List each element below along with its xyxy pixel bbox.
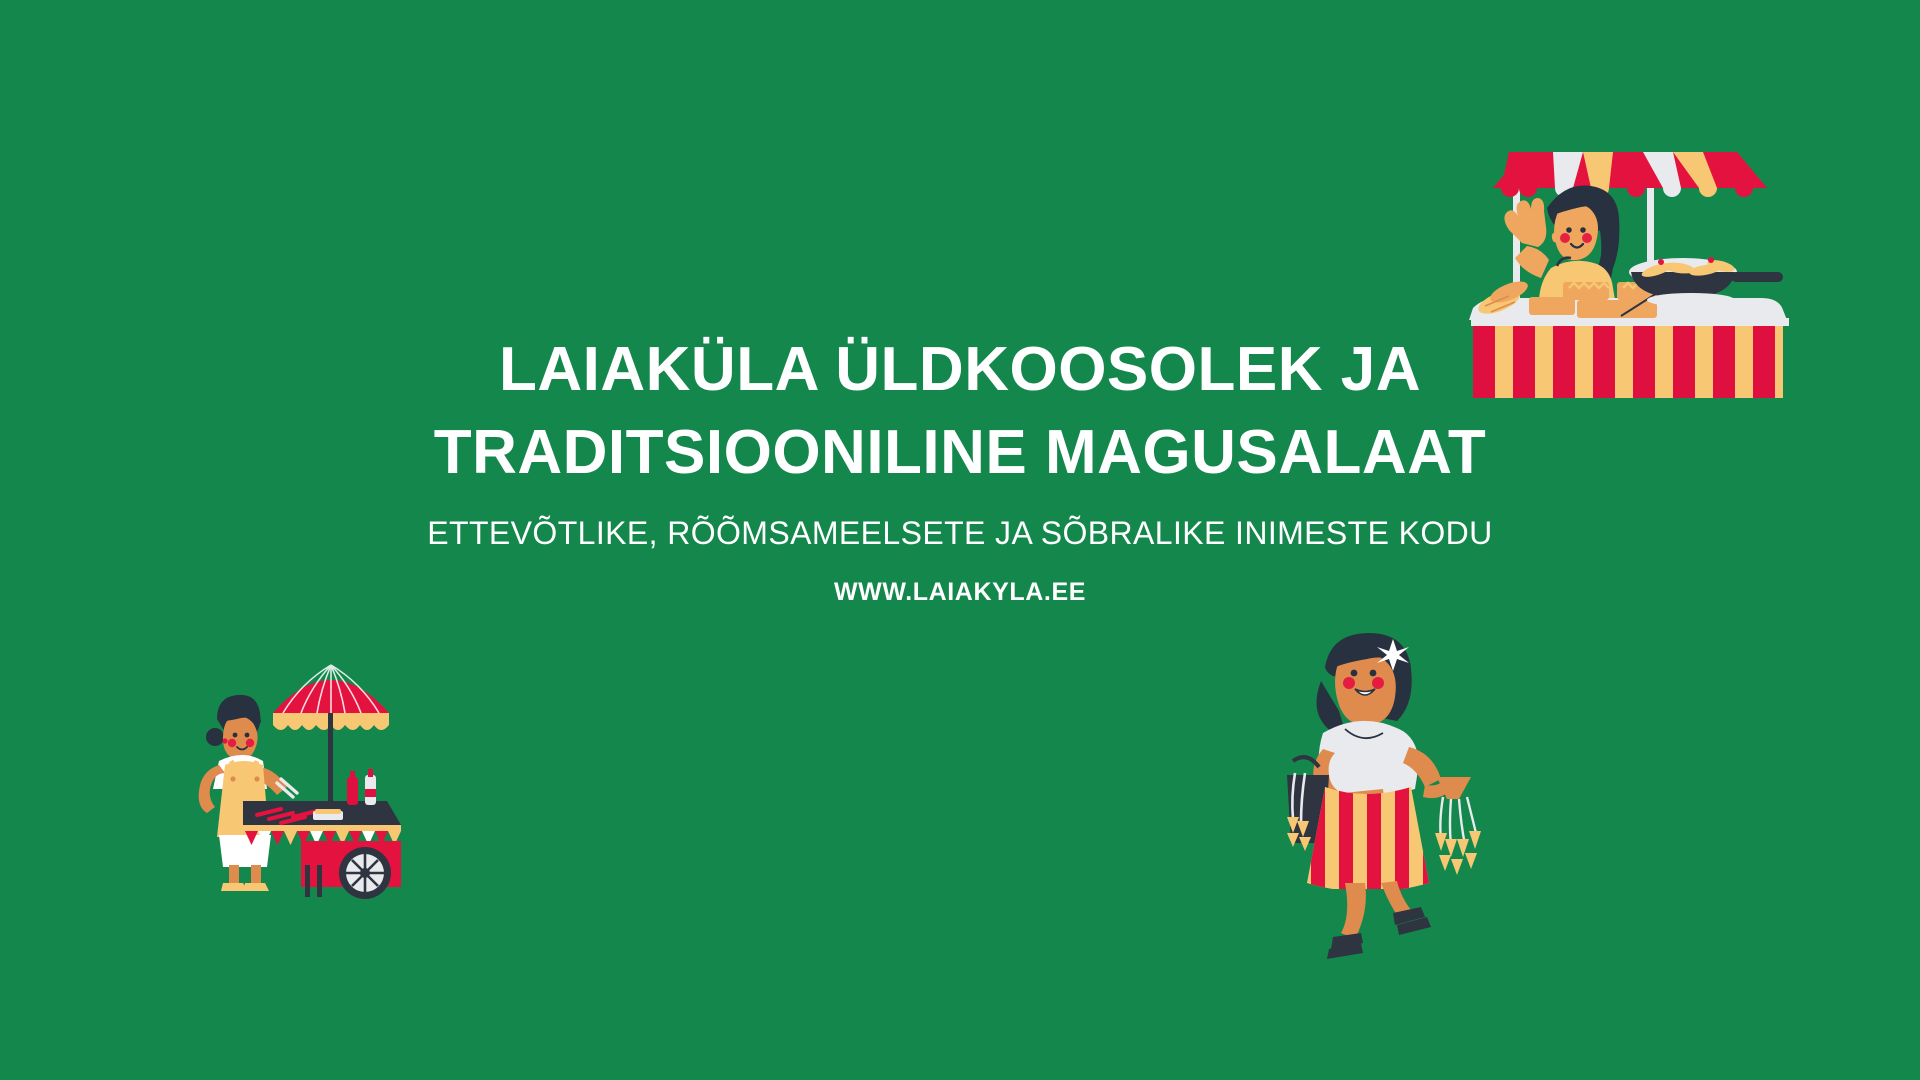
headline-line-1: LAIAKÜLA ÜLDKOOSOLEK JA (0, 330, 1920, 411)
umbrella-pole (328, 713, 333, 801)
hair-bun (206, 728, 224, 746)
vendor-eye-left (1566, 227, 1572, 233)
cart-wheel (339, 847, 391, 899)
shopper-striped-skirt (1303, 783, 1443, 889)
headline-line-2: TRADITSIOONILINE MAGUSALAAT (0, 413, 1920, 494)
cart-bottles (347, 769, 376, 805)
awning-canopy (1493, 152, 1767, 198)
poster-website: WWW.LAIAKYLA.EE (0, 552, 1920, 607)
wok-handle (1731, 272, 1783, 282)
shopper-top (1318, 721, 1419, 797)
poster-canvas: LAIAKÜLA ÜLDKOOSOLEK JA TRADITSIOONILINE… (0, 0, 1920, 1080)
food-cart-illustration (185, 625, 435, 905)
shopper-illustration (1275, 625, 1500, 970)
poster-text-block: LAIAKÜLA ÜLDKOOSOLEK JA TRADITSIOONILINE… (0, 330, 1920, 607)
vendor-eye-right (1580, 227, 1586, 233)
poster-subtitle: ETTEVÕTLIKE, RÕÕMSAMEELSETE JA SÕBRALIKE… (0, 493, 1920, 552)
